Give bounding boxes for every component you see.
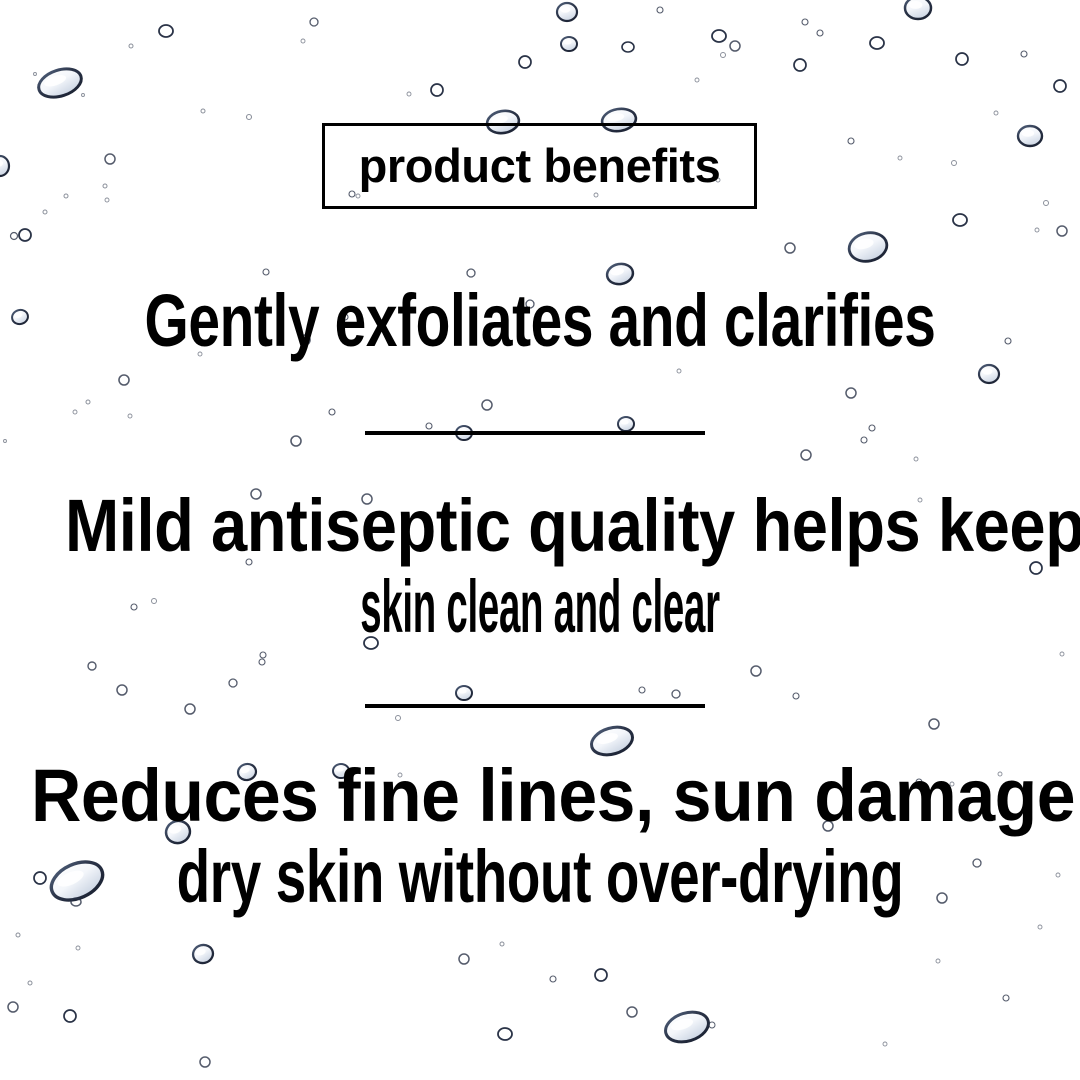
section-header-label: product benefits — [359, 142, 721, 191]
benefit-item-3: Reduces fine lines, sun damage and dry s… — [0, 759, 1080, 914]
benefit-item-1: Gently exfoliates and clarifies — [0, 284, 1080, 358]
benefit-1-line-1: Gently exfoliates and clarifies — [125, 284, 955, 358]
benefit-2-line-2: skin clean and clear — [260, 570, 820, 644]
benefit-item-2: Mild antiseptic quality helps keep skin … — [0, 489, 1080, 644]
benefits-infographic: product benefits Gently exfoliates and c… — [0, 0, 1080, 1080]
benefit-2-line-1: Mild antiseptic quality helps keep — [65, 489, 1015, 563]
benefit-3-line-2: dry skin without over-drying — [140, 840, 940, 914]
section-header-box: product benefits — [322, 123, 757, 209]
benefit-divider-2 — [365, 704, 705, 708]
benefit-3-line-1: Reduces fine lines, sun damage and — [31, 759, 1049, 833]
benefit-divider-1 — [365, 431, 705, 435]
